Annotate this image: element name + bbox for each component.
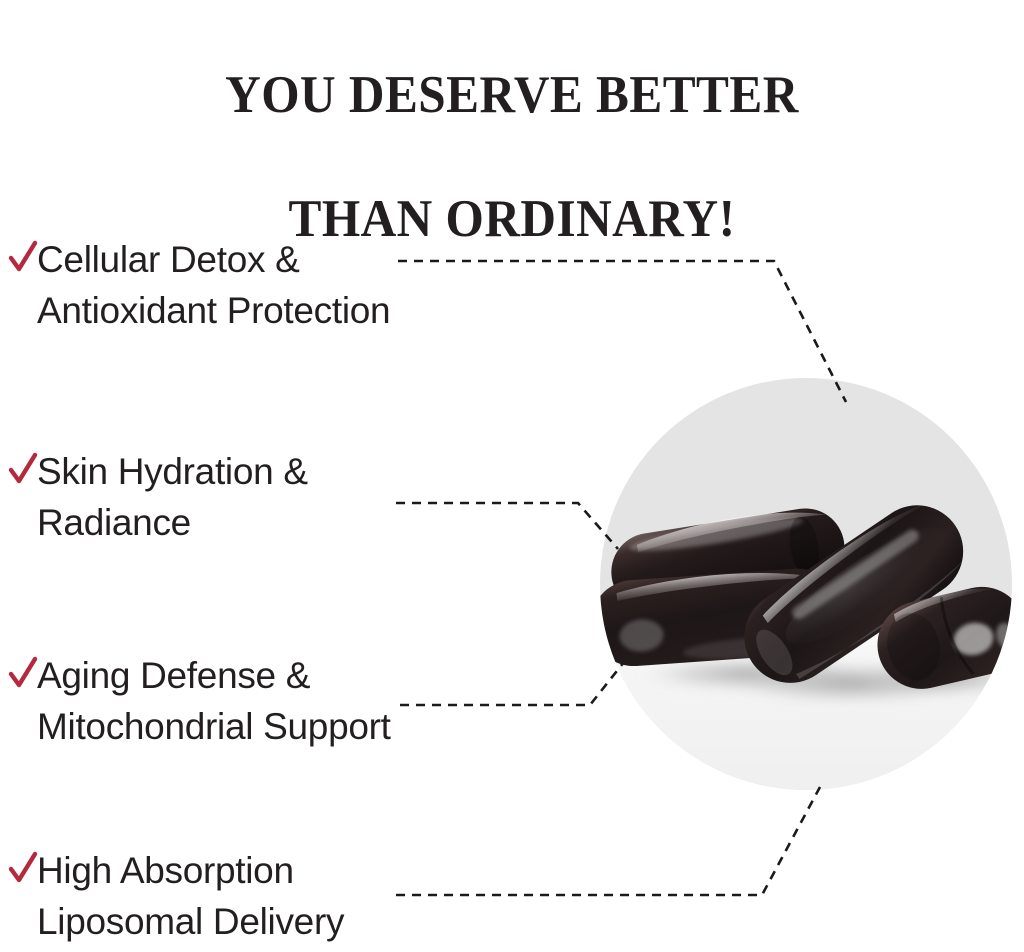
benefit-label: Aging Defense & Mitochondrial Support bbox=[37, 650, 391, 752]
check-icon bbox=[8, 654, 38, 694]
headline-line-1: YOU DESERVE BETTER bbox=[36, 64, 988, 126]
benefit-item-cellular-detox: Cellular Detox & Antioxidant Protection bbox=[6, 234, 390, 336]
connector-high-absorption bbox=[396, 787, 820, 895]
benefit-item-aging-defense: Aging Defense & Mitochondrial Support bbox=[6, 650, 391, 752]
connector-skin-hydration bbox=[396, 503, 618, 549]
infographic-canvas: YOU DESERVE BETTER THAN ORDINARY! bbox=[0, 0, 1024, 952]
softgel-capsules-illustration bbox=[600, 378, 1012, 790]
benefit-label: High Absorption Liposomal Delivery bbox=[37, 845, 344, 947]
benefit-label: Cellular Detox & Antioxidant Protection bbox=[37, 234, 390, 336]
check-icon bbox=[8, 238, 38, 278]
benefit-item-skin-hydration: Skin Hydration & Radiance bbox=[6, 446, 308, 548]
connector-aging-defense bbox=[400, 662, 624, 705]
product-image-circle bbox=[600, 378, 1012, 790]
check-icon bbox=[8, 450, 38, 490]
check-icon bbox=[8, 849, 38, 889]
benefit-label: Skin Hydration & Radiance bbox=[37, 446, 308, 548]
benefit-item-high-absorption: High Absorption Liposomal Delivery bbox=[6, 845, 344, 947]
